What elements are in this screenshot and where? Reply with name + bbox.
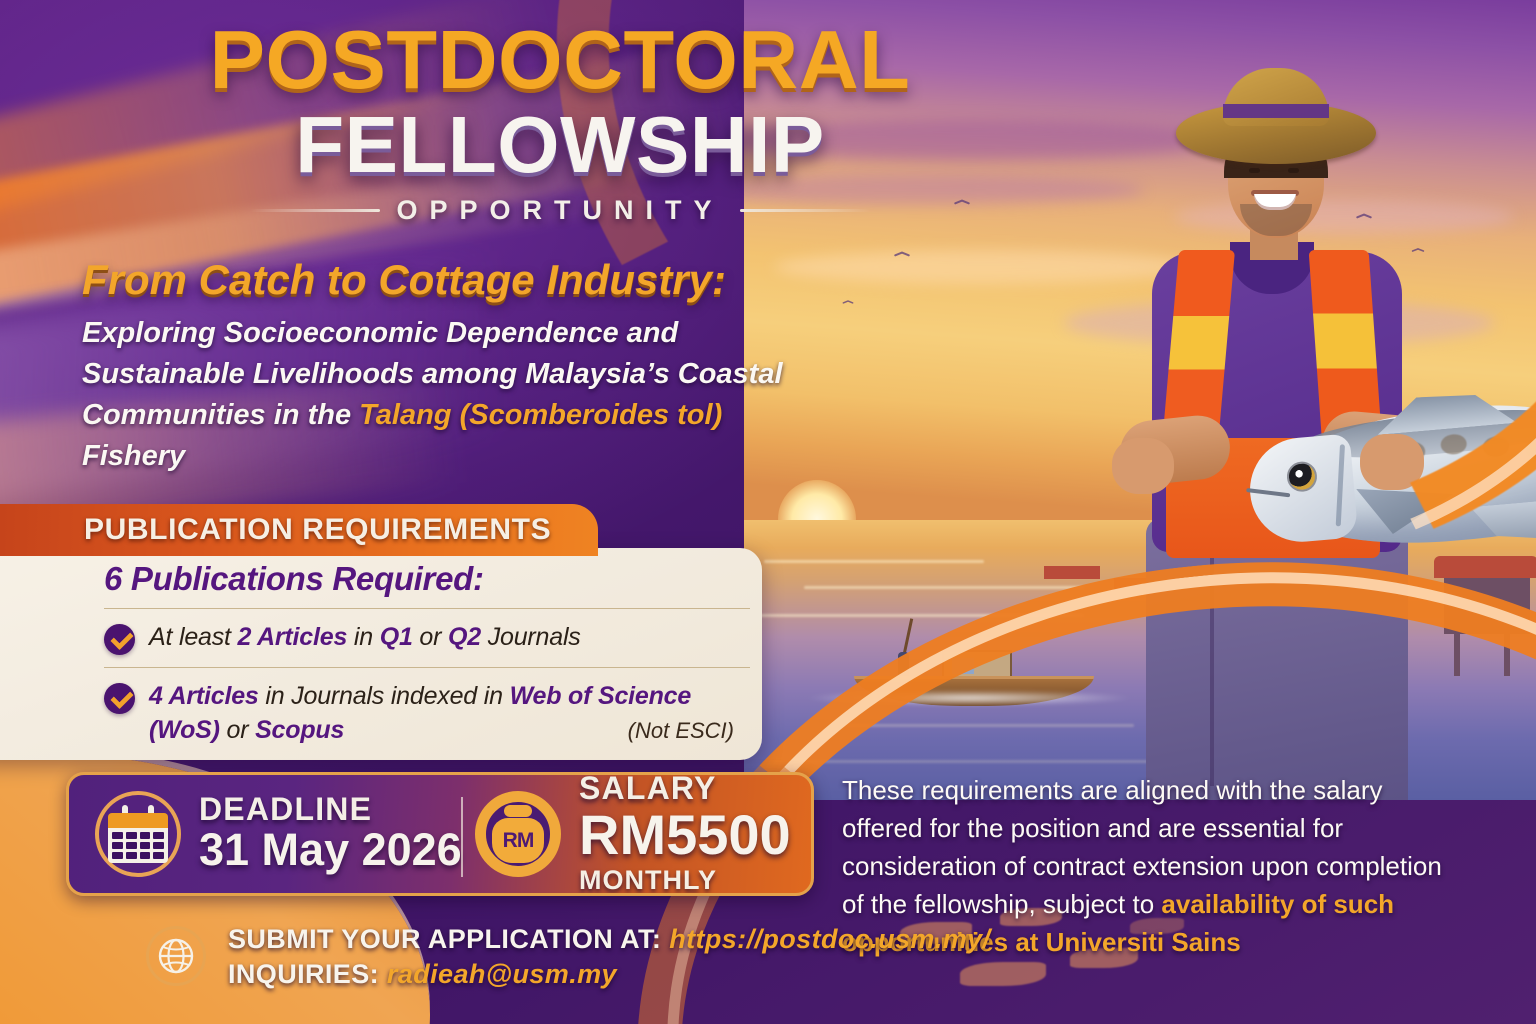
req2-b3: Scopus <box>255 716 344 744</box>
deadline-labels: DEADLINE 31 May 2026 <box>199 793 462 875</box>
calendar-glyph <box>108 805 168 863</box>
deadline-block: DEADLINE 31 May 2026 <box>95 775 462 893</box>
req1-pre: At least <box>149 623 238 651</box>
hand-right <box>1360 434 1424 490</box>
divider-left <box>250 209 380 212</box>
publication-requirements-label: PUBLICATION REQUIREMENTS <box>84 513 551 547</box>
hand-left <box>1112 438 1174 494</box>
requirement-text: At least 2 Articles in Q1 or Q2 Journals <box>149 621 581 655</box>
project-title-block: From Catch to Cottage Industry: Explorin… <box>82 258 794 477</box>
footer-contact: SUBMIT YOUR APPLICATION AT: https://post… <box>146 922 990 992</box>
money-bag-icon: RM <box>475 791 561 877</box>
salary-labels: SALARY RM5500 MONTHLY <box>579 772 791 896</box>
eye-right <box>1288 168 1299 173</box>
req2-mid2: or <box>220 716 255 744</box>
poster-header: POSTDOCTORAL FELLOWSHIP OPPORTUNITY <box>0 18 1120 226</box>
inquiries-label: INQUIRIES: <box>228 959 379 989</box>
apply-url[interactable]: https://postdoc.usm.my/ <box>669 924 990 954</box>
req1-mid1: in <box>347 623 380 651</box>
calendar-top-band <box>108 813 168 828</box>
bird-icon <box>894 250 910 258</box>
req1-b1: 2 Articles <box>238 623 348 651</box>
header-opportunity-row: OPPORTUNITY <box>0 195 1120 226</box>
check-circle-icon <box>104 683 135 714</box>
req2-b1: 4 Articles <box>149 682 259 710</box>
stilt-house-leg <box>1504 634 1510 676</box>
requirement-item: At least 2 Articles in Q1 or Q2 Journals <box>104 621 764 655</box>
header-line-postdoctoral: POSTDOCTORAL <box>0 18 1120 101</box>
salary-block: RM SALARY RM5500 MONTHLY <box>475 775 791 893</box>
divider <box>104 608 750 609</box>
deadline-salary-bar: DEADLINE 31 May 2026 RM SALARY RM5500 MO… <box>66 772 814 896</box>
divider-right <box>740 209 870 212</box>
eye-left <box>1249 168 1260 173</box>
sea-ripple <box>804 586 1084 589</box>
req1-mid2: or <box>413 623 448 651</box>
inquiries-line: INQUIRIES: radieah@usm.my <box>228 957 990 992</box>
poster-canvas: POSTDOCTORAL FELLOWSHIP OPPORTUNITY From… <box>0 0 1536 1024</box>
requirement-text: 4 Articles in Journals indexed in Web of… <box>149 680 764 747</box>
publication-requirements-content: 6 Publications Required: At least 2 Arti… <box>104 560 764 747</box>
divider <box>104 667 750 668</box>
inquiries-email[interactable]: radieah@usm.my <box>387 959 617 989</box>
project-subtitle-species: Talang (Scomberoides tol) <box>359 399 722 431</box>
sea-ripple <box>754 614 1084 617</box>
second-fisherman <box>898 652 909 678</box>
money-bag-glyph: RM <box>490 805 546 863</box>
req1-post: Journals <box>481 623 581 651</box>
fisherman-figure <box>1060 66 1490 800</box>
salary-value: RM5500 <box>579 804 791 866</box>
money-bag-body: RM <box>492 818 544 863</box>
footer-text-block: SUBMIT YOUR APPLICATION AT: https://post… <box>228 922 990 992</box>
apply-line: SUBMIT YOUR APPLICATION AT: https://post… <box>228 922 990 957</box>
req1-b2: Q1 <box>380 623 413 651</box>
money-bag-tie <box>504 805 532 817</box>
bar-divider <box>461 797 463 877</box>
apply-label: SUBMIT YOUR APPLICATION AT: <box>228 924 661 954</box>
deadline-label: DEADLINE <box>199 793 462 825</box>
project-title: From Catch to Cottage Industry: <box>82 258 794 303</box>
req2-mid1: in Journals indexed in <box>259 682 510 710</box>
requirement-item: 4 Articles in Journals indexed in Web of… <box>104 680 764 747</box>
salary-label: SALARY <box>579 772 791 804</box>
project-subtitle: Exploring Socioeconomic Dependence and S… <box>82 313 794 478</box>
calendar-icon <box>95 791 181 877</box>
publications-required-heading: 6 Publications Required: <box>104 560 764 598</box>
header-line-opportunity: OPPORTUNITY <box>396 195 723 226</box>
globe-icon <box>146 926 206 986</box>
deadline-value: 31 May 2026 <box>199 825 462 875</box>
check-circle-icon <box>104 624 135 655</box>
publication-requirements-tab: PUBLICATION REQUIREMENTS <box>0 504 598 556</box>
pants-fold <box>1210 536 1214 786</box>
salary-period: MONTHLY <box>579 865 791 896</box>
bird-icon <box>842 299 853 305</box>
sea-ripple <box>764 560 984 563</box>
project-subtitle-part2: Fishery <box>82 440 185 472</box>
calendar-grid <box>108 828 168 863</box>
boat-window <box>952 658 974 674</box>
header-line-fellowship: FELLOWSHIP <box>0 105 1120 185</box>
straw-hat-band <box>1223 104 1329 118</box>
currency-code: RM <box>503 829 534 853</box>
req1-b3: Q2 <box>448 623 481 651</box>
